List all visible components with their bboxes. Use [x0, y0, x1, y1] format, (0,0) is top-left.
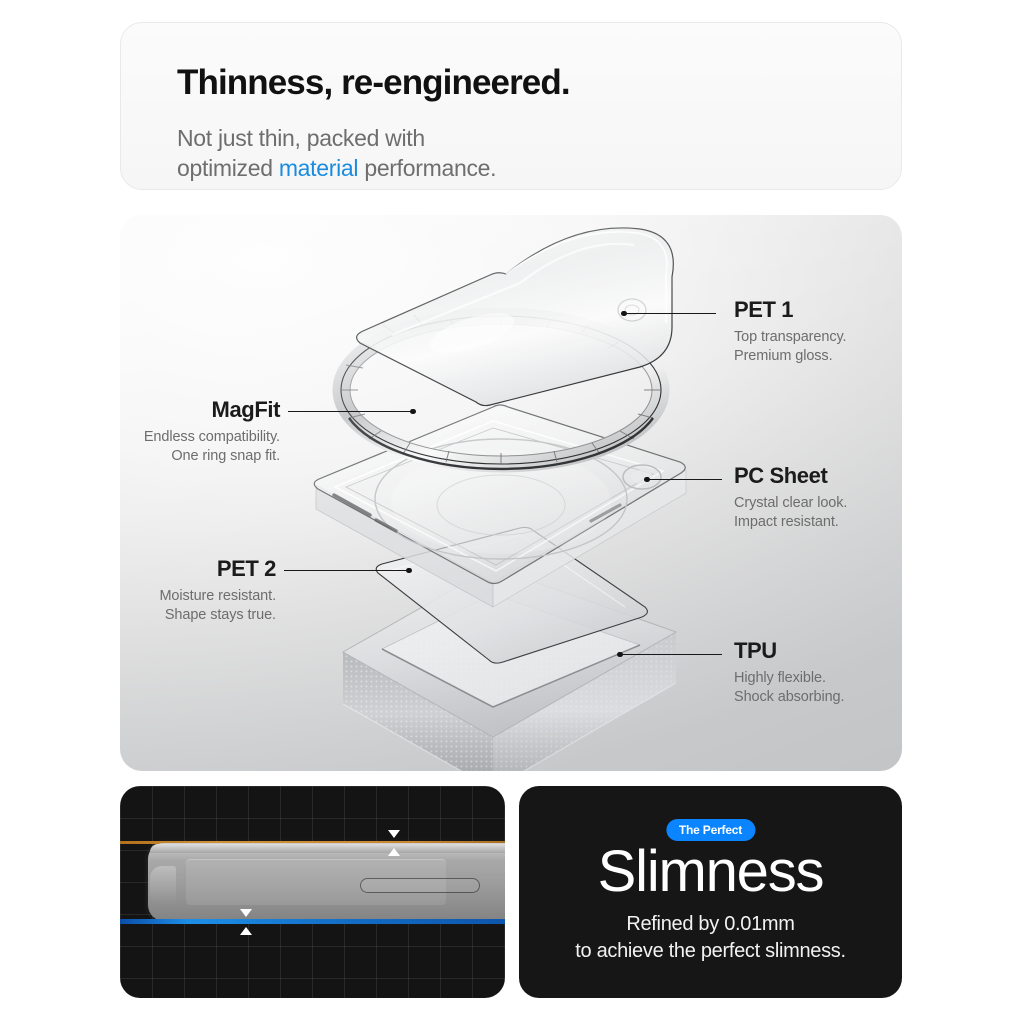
label-tpu[interactable]: TPU Highly flexible. Shock absorbing.: [734, 638, 844, 707]
label-tpu-desc: Highly flexible. Shock absorbing.: [734, 669, 844, 707]
layer-pet1-shape: [357, 228, 674, 406]
exploded-diagram-panel: PET 1 Top transparency. Premium gloss. M…: [120, 215, 902, 771]
label-tpu-desc-2: Shock absorbing.: [734, 689, 844, 705]
leader-line-pcsheet: [647, 479, 722, 480]
label-pc-sheet[interactable]: PC Sheet Crystal clear look. Impact resi…: [734, 463, 847, 532]
label-pet1-desc-1: Top transparency.: [734, 329, 846, 345]
slimness-title: Slimness: [598, 838, 824, 905]
label-magfit-desc: Endless compatibility. One ring snap fit…: [120, 428, 280, 466]
label-pet1[interactable]: PET 1 Top transparency. Premium gloss.: [734, 297, 846, 366]
label-pet1-title: PET 1: [734, 297, 846, 323]
measure-marker-top-down: [388, 830, 400, 838]
page-title: Thinness, re-engineered.: [177, 63, 570, 103]
phone-side-button: [360, 878, 480, 893]
phone-left-corner: [150, 866, 176, 906]
leader-line-tpu: [620, 654, 722, 655]
label-pet2[interactable]: PET 2 Moisture resistant. Shape stays tr…: [120, 556, 276, 625]
header-subtitle: Not just thin, packed with optimized mat…: [177, 123, 496, 183]
label-magfit-title: MagFit: [120, 397, 280, 423]
measure-marker-top-up: [388, 848, 400, 856]
leader-line-pet2: [284, 570, 409, 571]
label-pc-sheet-desc: Crystal clear look. Impact resistant.: [734, 494, 847, 532]
label-pet2-title: PET 2: [120, 556, 276, 582]
guide-line-bottom: [120, 919, 505, 924]
label-pet2-desc: Moisture resistant. Shape stays true.: [120, 587, 276, 625]
slimness-subtitle: Refined by 0.01mm to achieve the perfect…: [575, 911, 846, 965]
subtitle-accent-word: material: [279, 155, 358, 181]
measure-marker-bottom-down: [240, 909, 252, 917]
label-magfit-desc-2: One ring snap fit.: [171, 448, 280, 464]
label-pc-sheet-desc-2: Impact resistant.: [734, 514, 839, 530]
label-pet2-desc-1: Moisture resistant.: [159, 588, 276, 604]
subtitle-line-1: Not just thin, packed with: [177, 125, 425, 151]
product-infographic: Thinness, re-engineered. Not just thin, …: [0, 0, 1024, 1024]
label-tpu-desc-1: Highly flexible.: [734, 670, 826, 686]
subtitle-line-2-pre: optimized: [177, 155, 279, 181]
label-pet2-desc-2: Shape stays true.: [165, 607, 276, 623]
cross-section-panel: [120, 786, 505, 998]
label-magfit-desc-1: Endless compatibility.: [144, 429, 280, 445]
label-magfit[interactable]: MagFit Endless compatibility. One ring s…: [120, 397, 280, 466]
slimness-sub-line-2: to achieve the perfect slimness.: [575, 940, 846, 962]
subtitle-line-2-post: performance.: [358, 155, 496, 181]
label-pc-sheet-desc-1: Crystal clear look.: [734, 495, 847, 511]
phone-top-edge: [150, 844, 505, 853]
leader-line-magfit: [288, 411, 413, 412]
leader-line-pet1: [624, 313, 716, 314]
label-pet1-desc: Top transparency. Premium gloss.: [734, 328, 846, 366]
slimness-sub-line-1: Refined by 0.01mm: [626, 913, 794, 935]
label-pet1-desc-2: Premium gloss.: [734, 348, 833, 364]
measure-marker-bottom-up: [240, 927, 252, 935]
label-pc-sheet-title: PC Sheet: [734, 463, 847, 489]
slimness-panel: The Perfect Slimness Refined by 0.01mm t…: [519, 786, 902, 998]
label-tpu-title: TPU: [734, 638, 844, 664]
header-card: Thinness, re-engineered. Not just thin, …: [120, 22, 902, 190]
